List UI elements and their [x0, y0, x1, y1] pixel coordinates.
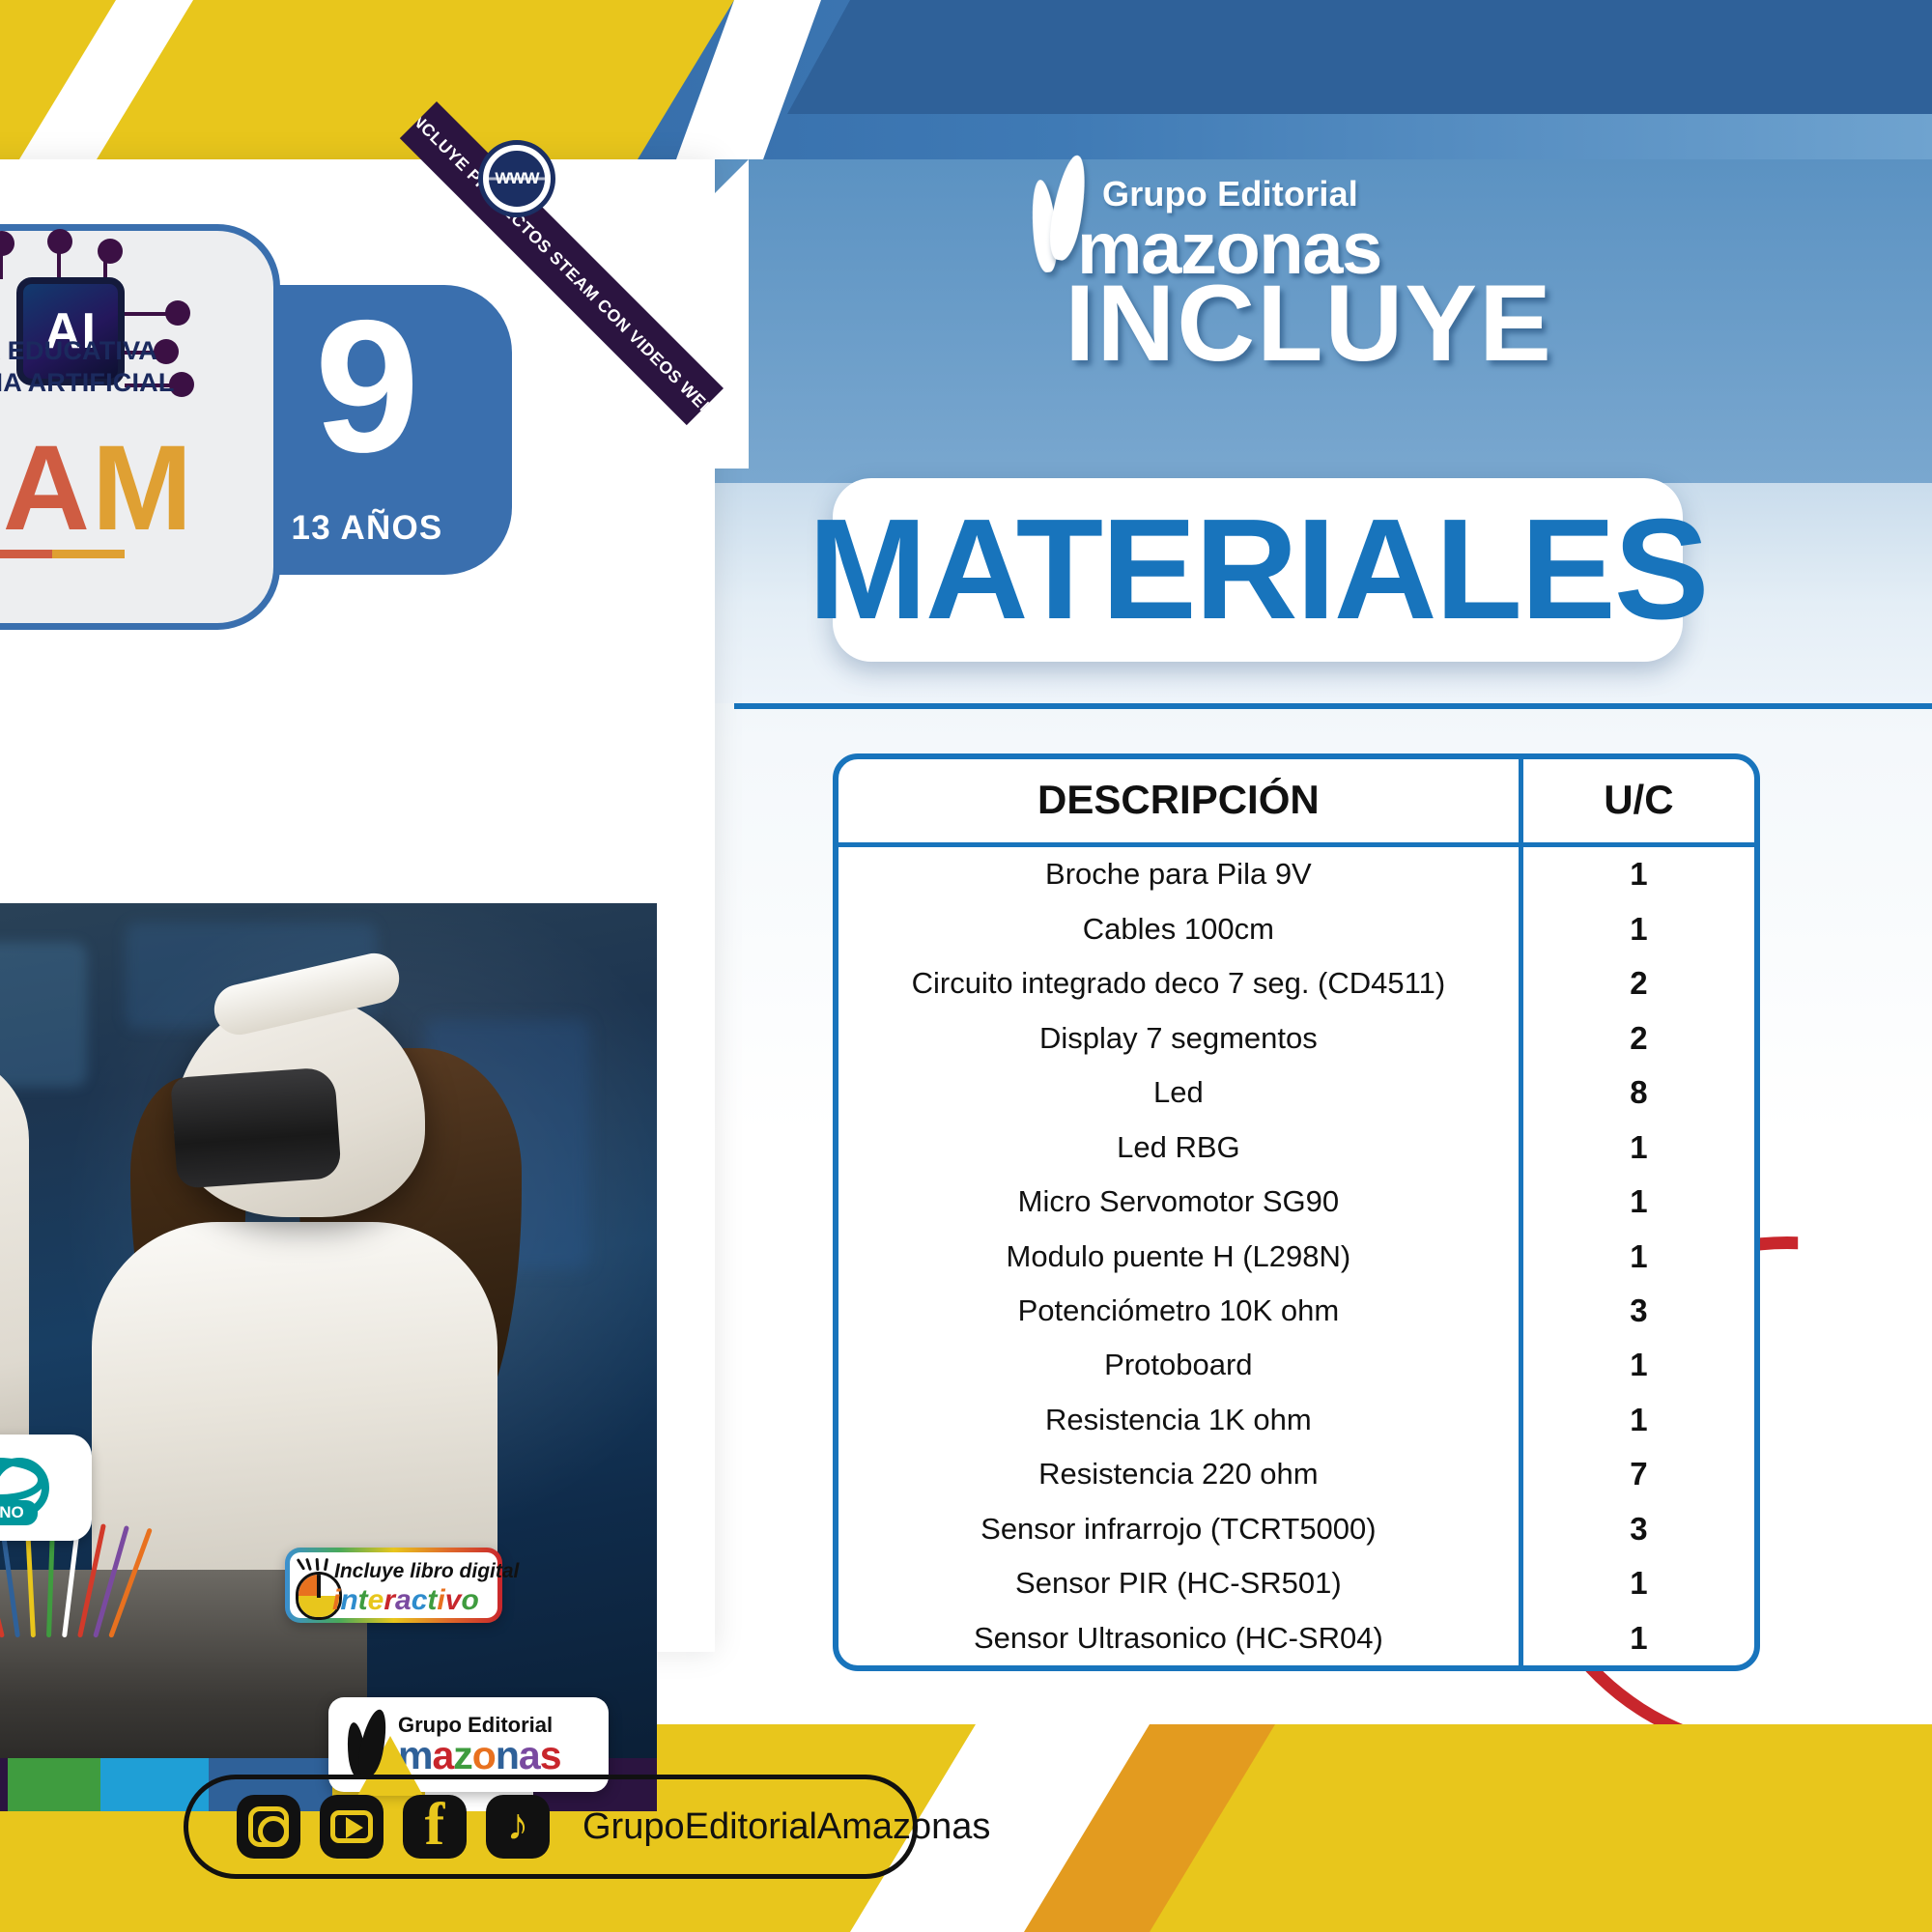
cell-descripcion: Broche para Pila 9V	[838, 845, 1520, 902]
facebook-icon[interactable]	[403, 1795, 467, 1859]
cell-descripcion: Micro Servomotor SG90	[838, 1175, 1520, 1229]
cell-uc: 1	[1520, 1229, 1754, 1283]
materiales-heading: MATERIALES	[809, 498, 1708, 641]
materials-table-card: DESCRIPCIÓN U/C Broche para Pila 9V1Cabl…	[833, 753, 1760, 1671]
cell-uc: 1	[1520, 1393, 1754, 1447]
badge-subtitle-line1: Y ROBÓTICA EDUCATIVA	[0, 335, 290, 367]
badge-subtitle-line2: INTELIGENCIA ARTIFICIAL	[0, 367, 290, 399]
cell-uc: 1	[1520, 1120, 1754, 1174]
social-handle: GrupoEditorialAmazonas	[582, 1806, 990, 1848]
cell-descripcion: Resistencia 220 ohm	[838, 1447, 1520, 1501]
table-row: Led8	[838, 1065, 1754, 1120]
cell-uc: 1	[1520, 1556, 1754, 1610]
cell-descripcion: Protoboard	[838, 1338, 1520, 1392]
cell-uc: 7	[1520, 1447, 1754, 1501]
arduino-infinity-icon	[0, 1458, 45, 1502]
table-row: Cables 100cm1	[838, 902, 1754, 956]
cell-descripcion: Led RBG	[838, 1120, 1520, 1174]
column-header-descripcion: DESCRIPCIÓN	[838, 759, 1520, 845]
interactive-badge-line1: Incluye libro digital	[334, 1560, 519, 1583]
cell-descripcion: Cables 100cm	[838, 902, 1520, 956]
feather-icon	[340, 1707, 396, 1782]
cell-uc: 1	[1520, 845, 1754, 902]
steam-ai-badge: AI S T A M	[0, 224, 280, 630]
table-header-row: DESCRIPCIÓN U/C	[838, 759, 1754, 845]
cell-descripcion: Led	[838, 1065, 1520, 1120]
table-row: Protoboard1	[838, 1338, 1754, 1392]
cell-uc: 2	[1520, 1011, 1754, 1065]
table-row: Sensor PIR (HC-SR501)1	[838, 1556, 1754, 1610]
photo-background-blur	[0, 942, 87, 1087]
interactive-badge-line2: interactivo	[332, 1584, 479, 1617]
instagram-icon[interactable]	[237, 1795, 300, 1859]
cell-descripcion: Modulo puente H (L298N)	[838, 1229, 1520, 1283]
incluye-heading: INCLUYE	[686, 261, 1932, 385]
cell-descripcion: Sensor PIR (HC-SR501)	[838, 1556, 1520, 1610]
cell-uc: 3	[1520, 1284, 1754, 1338]
globe-label: WWW	[495, 169, 538, 188]
table-body: Broche para Pila 9V1Cables 100cm1Circuit…	[838, 845, 1754, 1666]
table-row: Sensor infrarrojo (TCRT5000)3	[838, 1502, 1754, 1556]
table-row: Resistencia 1K ohm1	[838, 1393, 1754, 1447]
table-row: Led RBG1	[838, 1120, 1754, 1174]
interactive-book-badge: Incluye libro digital interactivo	[285, 1548, 502, 1623]
cell-uc: 1	[1520, 1610, 1754, 1665]
cell-descripcion: Sensor infrarrojo (TCRT5000)	[838, 1502, 1520, 1556]
steam-letter-t: T	[0, 437, 1, 541]
materials-table: DESCRIPCIÓN U/C Broche para Pila 9V1Cabl…	[838, 759, 1754, 1665]
panel-divider-rule	[734, 703, 1932, 709]
cell-descripcion: Display 7 segmentos	[838, 1011, 1520, 1065]
cell-uc: 1	[1520, 1338, 1754, 1392]
cell-descripcion: Potenciómetro 10K ohm	[838, 1284, 1520, 1338]
table-row: Sensor Ultrasonico (HC-SR04)1	[838, 1610, 1754, 1665]
arduino-badge: UNO	[0, 1435, 92, 1541]
cell-descripcion: Sensor Ultrasonico (HC-SR04)	[838, 1610, 1520, 1665]
poster-root: Incluye libro digital interactivo UNO Gr…	[0, 0, 1932, 1932]
table-row: Circuito integrado deco 7 seg. (CD4511)2	[838, 956, 1754, 1010]
cell-descripcion: Circuito integrado deco 7 seg. (CD4511)	[838, 956, 1520, 1010]
www-globe-icon: WWW	[478, 140, 555, 217]
materiales-heading-pill: MATERIALES	[833, 478, 1683, 662]
cell-uc: 3	[1520, 1502, 1754, 1556]
cover-photo	[0, 903, 657, 1811]
youtube-icon[interactable]	[320, 1795, 384, 1859]
cell-descripcion: Resistencia 1K ohm	[838, 1393, 1520, 1447]
steam-letters: S T A M	[0, 410, 125, 540]
table-row: Resistencia 220 ohm7	[838, 1447, 1754, 1501]
steam-letter-m: M	[92, 437, 192, 541]
table-row: Micro Servomotor SG901	[838, 1175, 1754, 1229]
cell-uc: 2	[1520, 956, 1754, 1010]
badge-subtitle: Y ROBÓTICA EDUCATIVA INTELIGENCIA ARTIFI…	[0, 335, 290, 399]
social-media-bar[interactable]: GrupoEditorialAmazonas	[184, 1775, 918, 1879]
cell-uc: 8	[1520, 1065, 1754, 1120]
table-row: Modulo puente H (L298N)1	[838, 1229, 1754, 1283]
table-row: Potenciómetro 10K ohm3	[838, 1284, 1754, 1338]
steam-underline	[0, 550, 125, 558]
table-row: Display 7 segmentos2	[838, 1011, 1754, 1065]
photo-wires	[0, 1521, 290, 1657]
arduino-uno-label: UNO	[0, 1500, 38, 1525]
cell-uc: 1	[1520, 1175, 1754, 1229]
steam-letter-a: A	[3, 437, 90, 541]
tiktok-icon[interactable]	[486, 1795, 550, 1859]
vr-headset-visor-icon	[170, 1066, 342, 1189]
column-header-uc: U/C	[1520, 759, 1754, 845]
cell-uc: 1	[1520, 902, 1754, 956]
table-row: Broche para Pila 9V1	[838, 845, 1754, 902]
